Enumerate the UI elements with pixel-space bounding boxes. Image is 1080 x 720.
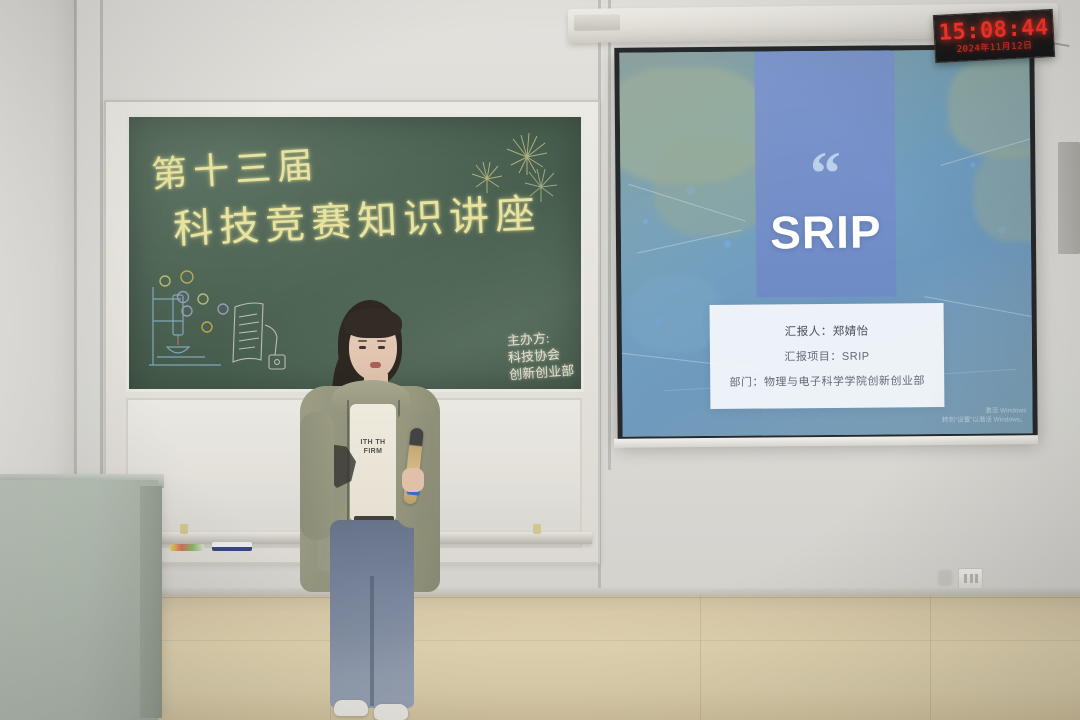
presenter-hand-left [336, 522, 356, 542]
presenter-shoe [334, 700, 368, 716]
slide-info-department: 部门：物理与电子科学学院创新创业部 [729, 372, 925, 390]
shirt-text-line-2: FIRM [350, 447, 396, 456]
presenter-left-arm [300, 412, 334, 540]
slide-info-card: 汇报人：郑婧怡 汇报项目：SRIP 部门：物理与电子科学学院创新创业部 [710, 303, 945, 409]
slide-info-project: 汇报项目：SRIP [784, 348, 869, 365]
wall-outlet[interactable] [958, 568, 983, 589]
presenter-shirt-text: ITH TH FIRM [350, 438, 396, 456]
presenter-jeans-seam [370, 576, 374, 706]
presenter: ITH TH FIRM [292, 300, 448, 720]
screen-roller-endcap [574, 14, 620, 31]
presenter-brow [377, 340, 386, 342]
presenter-mouth [370, 362, 381, 368]
slide-title: SRIP [770, 204, 882, 259]
floor [0, 596, 1080, 720]
classroom-scene: 第十三届 科技竞赛知识讲座 主办方: 科技协会 创新创业部 [0, 0, 1080, 720]
projection-screen: “ SRIP 汇报人：郑婧怡 汇报项目：SRIP 部门：物理与电子科学学院创新创… [614, 44, 1037, 442]
baseboard [0, 588, 1080, 596]
presenter-fringe [344, 308, 402, 338]
blackboard-host-credit: 主办方: 科技协会 创新创业部 [506, 328, 574, 383]
podium[interactable] [0, 480, 158, 720]
pillar-seam [608, 0, 611, 470]
led-clock: 15:08:44 2024年11月12日 [933, 9, 1055, 63]
presenter-shoe [374, 704, 408, 720]
board-eraser [212, 542, 252, 551]
presentation-slide: “ SRIP 汇报人：郑婧怡 汇报项目：SRIP 部门：物理与电子科学学院创新创… [619, 49, 1032, 437]
watermark-line-2: 转到“设置”以激活 Windows。 [942, 415, 1027, 425]
shirt-text-line-1: ITH TH [350, 438, 396, 447]
quote-mark-icon: “ [810, 143, 842, 205]
clock-time: 15:08:44 [938, 16, 1049, 46]
chalk-nub [180, 524, 188, 534]
presenter-eye [378, 346, 385, 349]
presenter-tank-top [350, 404, 396, 520]
presenter-hand [402, 468, 424, 492]
slide-info-presenter: 汇报人：郑婧怡 [785, 323, 869, 340]
podium-side [140, 486, 162, 718]
screen-surface: “ SRIP 汇报人：郑婧怡 汇报项目：SRIP 部门：物理与电子科学学院创新创… [619, 49, 1032, 437]
chalk-nub [533, 524, 541, 534]
presenter-eye [359, 346, 366, 349]
presenter-brow [358, 340, 367, 342]
colored-chalk-set [170, 544, 204, 551]
wall-smudge [938, 570, 952, 586]
windows-activation-watermark: 激活 Windows 转到“设置”以激活 Windows。 [942, 406, 1027, 425]
wall-speaker-panel [1058, 142, 1080, 254]
blackboard-title-line1: 第十三届 [150, 136, 321, 198]
